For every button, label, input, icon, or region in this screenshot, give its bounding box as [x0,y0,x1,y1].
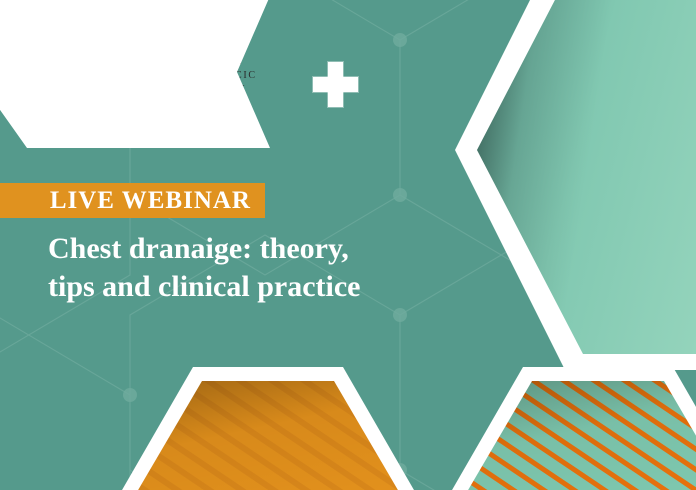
right-accent-hexagon [455,0,696,370]
live-webinar-label: LIVE WEBINAR [50,187,251,215]
webinar-poster: AIPO ASSOCIAZIONE ITALIANA PNEUMOLOGI OS… [0,0,696,490]
live-webinar-banner: LIVE WEBINAR [0,183,265,218]
bottom-striped-hexagon [448,367,696,490]
medical-cross-icon [313,62,358,107]
title-line-2: tips and clinical practice [48,268,468,306]
logo-panel [0,0,270,148]
bottom-orange-hexagon [118,367,418,490]
page-title: Chest dranaige: theory, tips and clinica… [48,230,468,305]
cross-bar-vertical [328,62,343,107]
title-line-1: Chest dranaige: theory, [48,232,349,265]
